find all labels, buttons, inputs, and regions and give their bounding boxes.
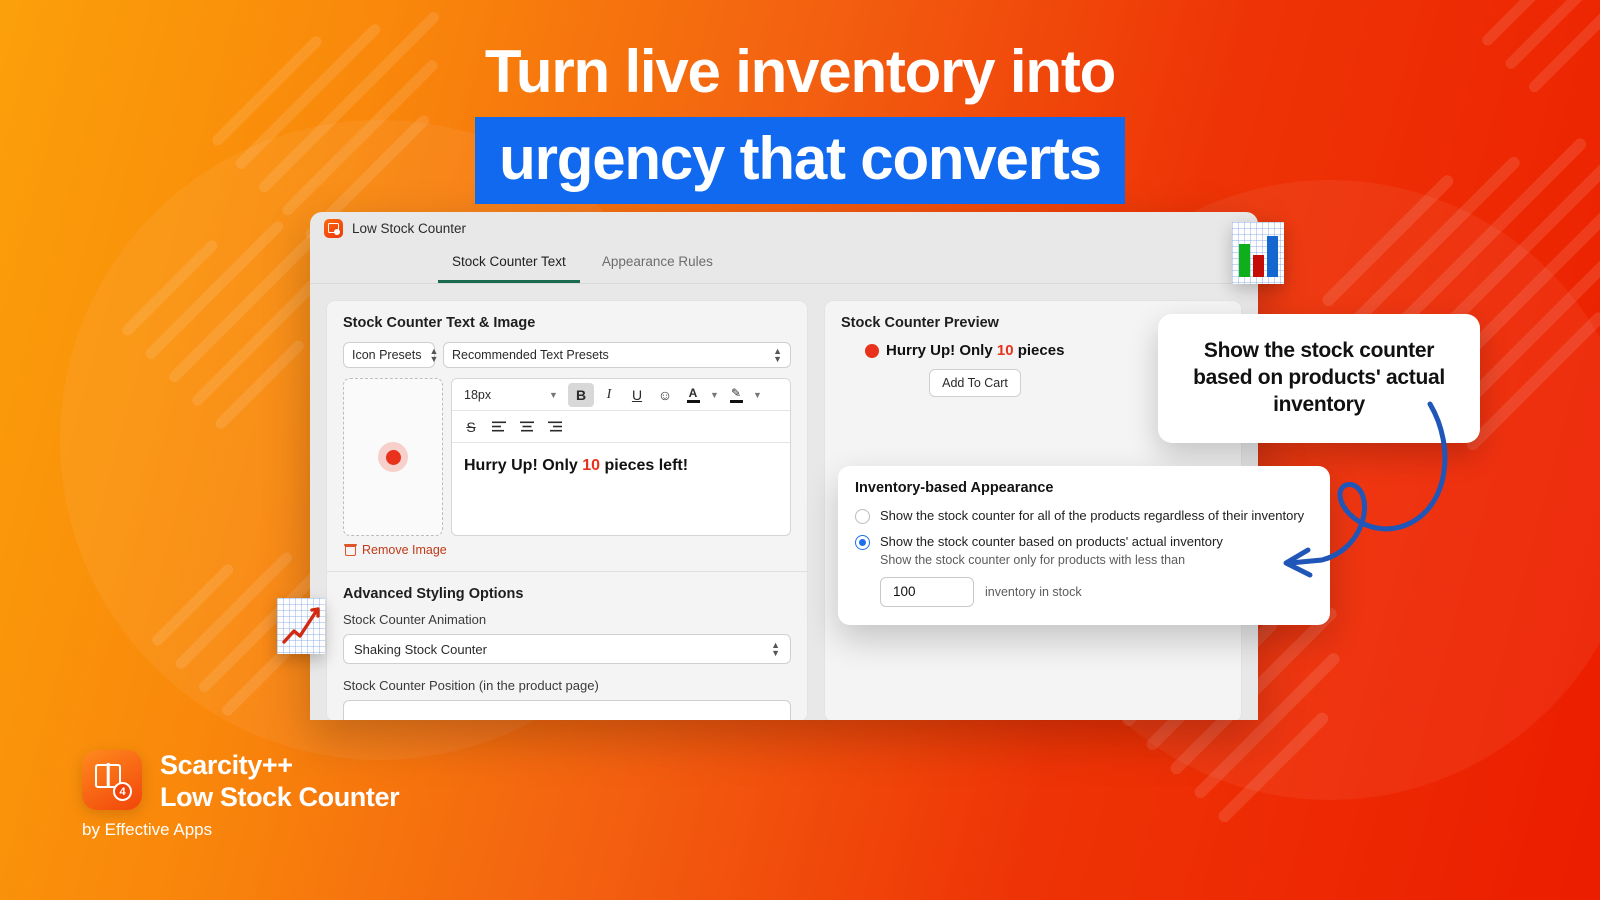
editor-row: 18px ▼ B I U ☺ A ▼ ✎ <box>343 378 791 536</box>
editor-text-pre: Hurry Up! Only <box>464 457 582 474</box>
chevron-down-icon[interactable]: ▼ <box>708 390 721 400</box>
brand-logo-icon: 4 <box>82 750 142 810</box>
advanced-styling-title: Advanced Styling Options <box>343 586 791 602</box>
text-presets-label: Recommended Text Presets <box>452 348 609 362</box>
position-select[interactable] <box>343 700 791 720</box>
radio-option-actual-inventory-label: Show the stock counter based on products… <box>880 534 1223 550</box>
card-title-text-image: Stock Counter Text & Image <box>343 315 791 331</box>
brand-badge: 4 <box>113 782 132 801</box>
preview-text-number: 10 <box>997 342 1014 359</box>
underline-button[interactable]: U <box>624 383 650 407</box>
chevron-down-icon[interactable]: ▼ <box>751 390 764 400</box>
preview-text-post: pieces <box>1014 342 1065 359</box>
radio-button-selected-icon[interactable] <box>855 535 870 550</box>
blue-arrow-annotation <box>1230 400 1460 600</box>
remove-image-button[interactable]: Remove Image <box>345 543 791 557</box>
editor-toolbar-row-1: 18px ▼ B I U ☺ A ▼ ✎ <box>452 379 790 411</box>
editor-text-post: pieces left! <box>600 457 688 474</box>
updown-chevron-icon: ▲▼ <box>773 347 782 363</box>
align-right-icon <box>548 421 562 433</box>
bar-chart-icon <box>1232 222 1284 284</box>
animation-select[interactable]: Shaking Stock Counter ▲▼ <box>343 634 791 664</box>
font-size-select[interactable]: 18px ▼ <box>458 388 566 402</box>
red-dot-icon <box>865 344 879 358</box>
text-color-icon: A <box>687 387 700 403</box>
bar-chart-sticker <box>1232 222 1284 284</box>
remove-image-label: Remove Image <box>362 543 447 557</box>
add-to-cart-button[interactable]: Add To Cart <box>929 369 1021 397</box>
inventory-threshold-input[interactable]: 100 <box>880 577 974 607</box>
icon-presets-select[interactable]: Icon Presets ▲▼ <box>343 342 435 368</box>
rich-text-editor: 18px ▼ B I U ☺ A ▼ ✎ <box>451 378 791 536</box>
line-chart-sticker <box>277 598 325 654</box>
align-center-button[interactable] <box>514 415 540 439</box>
position-field-label: Stock Counter Position (in the product p… <box>343 678 791 693</box>
inventory-threshold-suffix: inventory in stock <box>985 585 1082 599</box>
headline-line-2: urgency that converts <box>475 117 1125 204</box>
highlight-button[interactable]: ✎ <box>723 383 749 407</box>
tab-stock-counter-text[interactable]: Stock Counter Text <box>438 244 580 283</box>
text-presets-select[interactable]: Recommended Text Presets ▲▼ <box>443 342 791 368</box>
headline-line-2-wrapper: urgency that converts <box>0 117 1600 204</box>
italic-button[interactable]: I <box>596 383 622 407</box>
radio-button-icon[interactable] <box>855 509 870 524</box>
red-dot-icon <box>378 442 408 472</box>
align-right-button[interactable] <box>542 415 568 439</box>
animation-field-label: Stock Counter Animation <box>343 612 791 627</box>
updown-chevron-icon: ▲▼ <box>429 347 438 363</box>
hero-headline: Turn live inventory into urgency that co… <box>0 40 1600 204</box>
icon-presets-label: Icon Presets <box>352 348 421 362</box>
updown-chevron-icon: ▲▼ <box>771 641 780 657</box>
brand-byline: by Effective Apps <box>82 820 212 840</box>
window-title: Low Stock Counter <box>352 221 466 236</box>
highlighter-pen-icon: ✎ <box>730 387 743 403</box>
brand-name: Scarcity++ Low Stock Counter <box>160 750 399 814</box>
headline-line-1: Turn live inventory into <box>0 40 1600 103</box>
emoji-button[interactable]: ☺ <box>652 383 678 407</box>
align-center-icon <box>520 421 534 433</box>
trash-icon <box>345 544 356 556</box>
chevron-down-icon: ▼ <box>547 390 560 400</box>
card-divider <box>327 571 807 572</box>
brand-name-line-2: Low Stock Counter <box>160 782 399 814</box>
tab-appearance-rules[interactable]: Appearance Rules <box>588 244 727 283</box>
align-left-icon <box>492 421 506 433</box>
presets-row: Icon Presets ▲▼ Recommended Text Presets… <box>343 342 791 368</box>
editor-toolbar-row-2: S <box>452 411 790 443</box>
font-size-value: 18px <box>464 388 491 402</box>
editor-content[interactable]: Hurry Up! Only 10 pieces left! <box>452 443 790 535</box>
line-chart-icon <box>277 598 325 654</box>
strikethrough-button[interactable]: S <box>458 415 484 439</box>
text-color-button[interactable]: A <box>680 383 706 407</box>
animation-value: Shaking Stock Counter <box>354 642 487 657</box>
package-box-icon <box>324 219 343 238</box>
brand-name-line-1: Scarcity++ <box>160 750 399 782</box>
window-titlebar: Low Stock Counter <box>310 212 1258 244</box>
editor-text-number: 10 <box>582 457 600 474</box>
preview-text-pre: Hurry Up! Only <box>886 342 997 359</box>
tab-bar: Stock Counter Text Appearance Rules <box>310 244 1258 284</box>
brand-footer: 4 Scarcity++ Low Stock Counter <box>82 750 399 814</box>
stock-counter-text-card: Stock Counter Text & Image Icon Presets … <box>326 300 808 720</box>
image-dropzone[interactable] <box>343 378 443 536</box>
bold-button[interactable]: B <box>568 383 594 407</box>
align-left-button[interactable] <box>486 415 512 439</box>
